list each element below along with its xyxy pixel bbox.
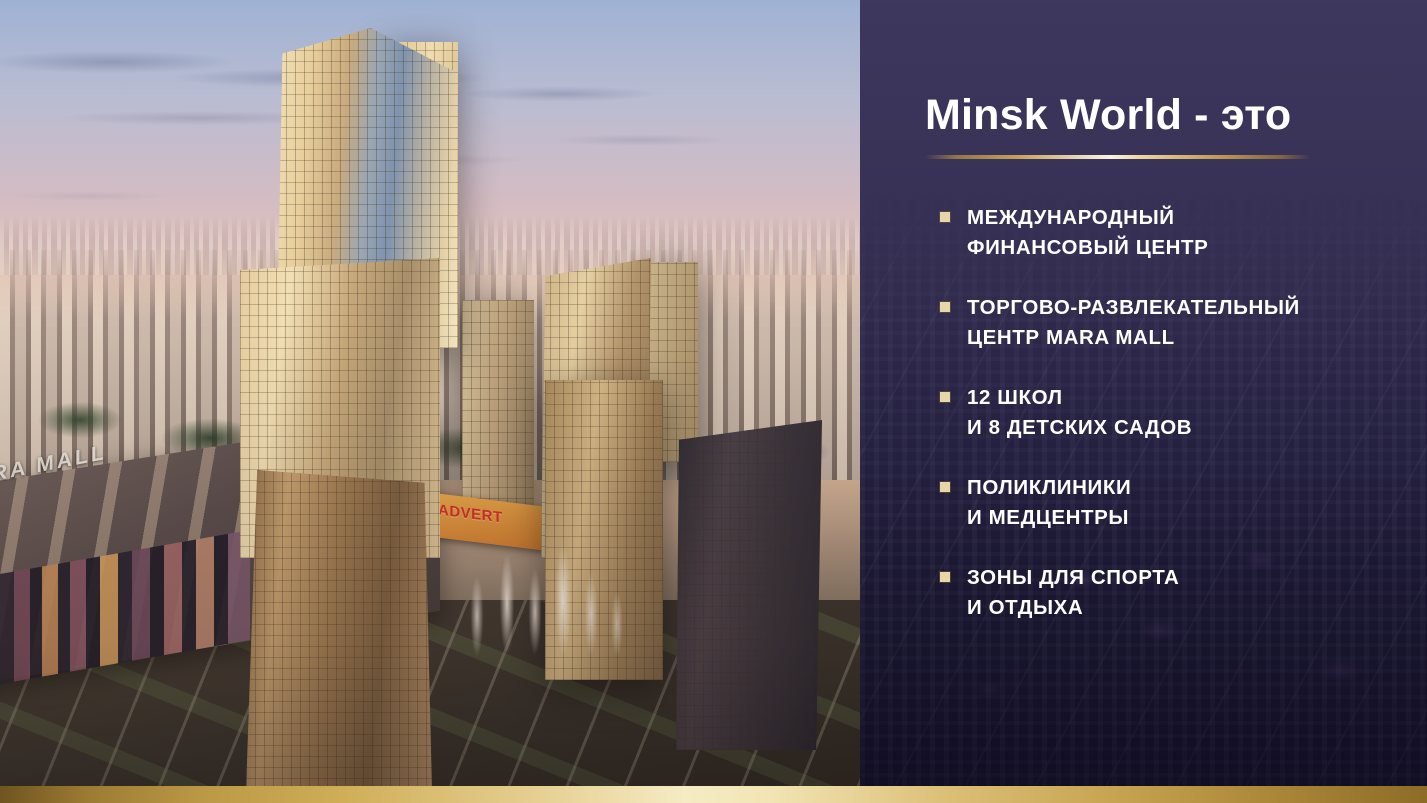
slide-root: RA MALL ADVERT xyxy=(0,0,1427,803)
list-item-line: И МЕДЦЕНТРЫ xyxy=(967,503,1425,533)
feature-list: МЕЖДУНАРОДНЫЙ ФИНАНСОВЫЙ ЦЕНТР ТОРГОВО-Р… xyxy=(925,203,1425,623)
square-bullet-icon xyxy=(940,302,950,312)
list-item: ПОЛИКЛИНИКИ И МЕДЦЕНТРЫ xyxy=(925,473,1425,533)
bottom-gold-bar xyxy=(0,786,1427,803)
gold-divider xyxy=(925,155,1311,159)
panel-content: Minsk World - это МЕЖДУНАРОДНЫЙ ФИНАНСОВ… xyxy=(925,0,1425,803)
glass-grid xyxy=(462,300,534,510)
dark-tower xyxy=(676,420,822,750)
fountain xyxy=(455,520,645,660)
list-item-line: ТОРГОВО-РАЗВЛЕКАТЕЛЬНЫЙ xyxy=(967,293,1425,323)
foreground-tower xyxy=(246,470,432,790)
list-item-line: ЦЕНТР MARA MALL xyxy=(967,323,1425,353)
page-title: Minsk World - это xyxy=(925,94,1291,137)
list-item-line: 12 ШКОЛ xyxy=(967,383,1425,413)
list-item: ТОРГОВО-РАЗВЛЕКАТЕЛЬНЫЙ ЦЕНТР MARA MALL xyxy=(925,293,1425,353)
list-item-line: ФИНАНСОВЫЙ ЦЕНТР xyxy=(967,233,1425,263)
list-item-line: ЗОНЫ ДЛЯ СПОРТА xyxy=(967,563,1425,593)
list-item-line: МЕЖДУНАРОДНЫЙ xyxy=(967,203,1425,233)
background-tower-a xyxy=(462,300,534,510)
list-item-line: И 8 ДЕТСКИХ САДОВ xyxy=(967,413,1425,443)
square-bullet-icon xyxy=(940,212,950,222)
glass-grid xyxy=(246,470,432,790)
square-bullet-icon xyxy=(940,572,950,582)
glass-grid xyxy=(676,420,822,750)
square-bullet-icon xyxy=(940,392,950,402)
list-item: ЗОНЫ ДЛЯ СПОРТА И ОТДЫХА xyxy=(925,563,1425,623)
hero-image: RA MALL ADVERT xyxy=(0,0,860,803)
list-item-line: ПОЛИКЛИНИКИ xyxy=(967,473,1425,503)
info-panel: Minsk World - это МЕЖДУНАРОДНЫЙ ФИНАНСОВ… xyxy=(860,0,1427,803)
square-bullet-icon xyxy=(940,482,950,492)
list-item-line: И ОТДЫХА xyxy=(967,593,1425,623)
list-item: МЕЖДУНАРОДНЫЙ ФИНАНСОВЫЙ ЦЕНТР xyxy=(925,203,1425,263)
list-item: 12 ШКОЛ И 8 ДЕТСКИХ САДОВ xyxy=(925,383,1425,443)
